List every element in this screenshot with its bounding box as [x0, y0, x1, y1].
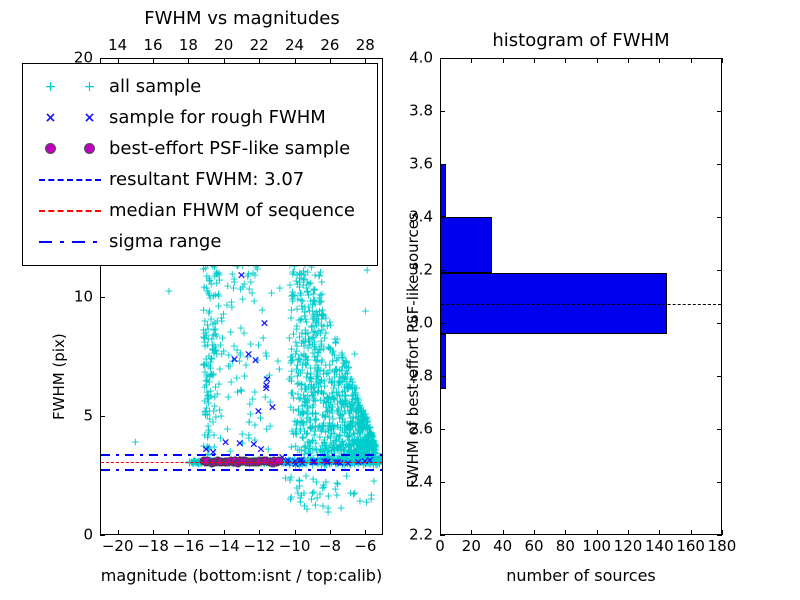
scatter-point-all-sample: + [316, 443, 325, 454]
scatter-point-all-sample: + [204, 324, 213, 335]
histogram-bar [441, 217, 492, 273]
scatter-xtick [259, 530, 260, 535]
scatter-point-all-sample: + [321, 312, 330, 323]
scatter-point-all-sample: + [348, 412, 357, 423]
scatter-point-rough-fwhm: × [202, 444, 211, 455]
scatter-point-all-sample: + [347, 374, 356, 385]
scatter-point-all-sample: + [206, 386, 215, 397]
scatter-point-all-sample: + [313, 369, 322, 380]
scatter-point-all-sample: + [208, 339, 217, 350]
scatter-point-all-sample: + [312, 314, 321, 325]
scatter-point-all-sample: + [308, 339, 317, 350]
scatter-point-all-sample: + [367, 428, 376, 439]
scatter-point-all-sample: + [250, 420, 259, 431]
scatter-point-all-sample: + [328, 347, 337, 358]
scatter-point-all-sample: + [311, 308, 320, 319]
scatter-point-all-sample: + [300, 302, 309, 313]
scatter-point-all-sample: + [333, 406, 342, 417]
scatter-point-all-sample: + [288, 354, 297, 365]
scatter-point-all-sample: + [367, 436, 376, 447]
scatter-point-all-sample: + [288, 268, 297, 279]
scatter-point-all-sample: + [293, 355, 302, 366]
scatter-point-all-sample: + [202, 271, 211, 282]
scatter-point-all-sample: + [340, 417, 349, 428]
scatter-point-all-sample: + [292, 275, 301, 286]
scatter-point-all-sample: + [324, 424, 333, 435]
scatter-point-all-sample: + [217, 315, 226, 326]
scatter-point-all-sample: + [295, 272, 304, 283]
scatter-point-all-sample: + [258, 455, 267, 466]
scatter-point-all-sample: + [290, 415, 299, 426]
scatter-point-all-sample: + [321, 439, 330, 450]
scatter-point-all-sample: + [201, 407, 210, 418]
scatter-point-all-sample: + [338, 408, 347, 419]
scatter-point-all-sample: + [227, 296, 236, 307]
histogram-top-xtick [691, 58, 692, 63]
scatter-point-all-sample: + [346, 458, 355, 469]
scatter-point-all-sample: + [248, 287, 257, 298]
scatter-point-all-sample: + [311, 316, 320, 327]
scatter-point-all-sample: + [319, 455, 328, 466]
scatter-point-all-sample: + [356, 427, 365, 438]
scatter-point-all-sample: + [344, 448, 353, 459]
scatter-point-all-sample: + [355, 419, 364, 430]
scatter-point-all-sample: + [338, 442, 347, 453]
scatter-point-all-sample: + [297, 379, 306, 390]
scatter-point-all-sample: + [323, 320, 332, 331]
scatter-point-all-sample: + [329, 437, 338, 448]
scatter-point-all-sample: + [307, 386, 316, 397]
scatter-point-all-sample: + [223, 280, 232, 291]
scatter-point-rough-fwhm: × [360, 455, 369, 466]
scatter-point-all-sample: + [344, 382, 353, 393]
scatter-point-all-sample: + [362, 433, 371, 444]
scatter-point-all-sample: + [341, 425, 350, 436]
scatter-point-all-sample: + [328, 375, 337, 386]
scatter-point-all-sample: + [334, 403, 343, 414]
scatter-point-all-sample: + [361, 433, 370, 444]
scatter-point-all-sample: + [325, 458, 334, 469]
scatter-point-all-sample: + [311, 317, 320, 328]
scatter-point-all-sample: + [211, 342, 220, 353]
scatter-point-all-sample: + [321, 477, 330, 488]
scatter-point-all-sample: + [358, 422, 367, 433]
scatter-point-all-sample: + [362, 421, 371, 432]
scatter-point-all-sample: + [332, 355, 341, 366]
scatter-ytick [100, 535, 105, 536]
scatter-point-all-sample: + [345, 442, 354, 453]
scatter-point-all-sample: + [288, 289, 297, 300]
scatter-point-all-sample: + [330, 429, 339, 440]
scatter-point-all-sample: + [368, 443, 377, 454]
scatter-point-all-sample: + [206, 292, 215, 303]
scatter-point-all-sample: + [212, 349, 221, 360]
scatter-point-all-sample: + [328, 387, 337, 398]
scatter-point-all-sample: + [322, 402, 331, 413]
scatter-point-all-sample: + [309, 382, 318, 393]
scatter-point-all-sample: + [214, 269, 223, 280]
scatter-point-all-sample: + [357, 419, 366, 430]
scatter-point-all-sample: + [361, 437, 370, 448]
scatter-point-all-sample: + [346, 416, 355, 427]
scatter-point-all-sample: + [343, 381, 352, 392]
scatter-point-all-sample: + [359, 441, 368, 452]
scatter-point-all-sample: + [320, 482, 329, 493]
scatter-point-all-sample: + [288, 295, 297, 306]
scatter-point-all-sample: + [203, 319, 212, 330]
scatter-point-all-sample: + [298, 303, 307, 314]
scatter-point-all-sample: + [211, 346, 220, 357]
scatter-point-all-sample: + [212, 269, 221, 280]
scatter-point-all-sample: + [344, 432, 353, 443]
scatter-point-all-sample: + [371, 442, 380, 453]
scatter-point-all-sample: + [200, 367, 209, 378]
scatter-point-all-sample: + [324, 490, 333, 501]
scatter-point-all-sample: + [201, 409, 210, 420]
scatter-point-all-sample: + [350, 437, 359, 448]
scatter-point-all-sample: + [360, 441, 369, 452]
scatter-point-all-sample: + [355, 419, 364, 430]
scatter-point-all-sample: + [293, 370, 302, 381]
scatter-point-all-sample: + [346, 441, 355, 452]
scatter-point-all-sample: + [329, 422, 338, 433]
scatter-point-all-sample: + [336, 423, 345, 434]
scatter-point-all-sample: + [204, 430, 213, 441]
histogram-xtick [659, 530, 660, 535]
scatter-point-all-sample: + [208, 370, 217, 381]
scatter-point-all-sample: + [305, 440, 314, 451]
scatter-point-all-sample: + [362, 455, 371, 466]
scatter-point-rough-fwhm: × [221, 436, 230, 447]
scatter-point-all-sample: + [349, 489, 358, 500]
scatter-point-all-sample: + [298, 359, 307, 370]
scatter-point-all-sample: + [303, 327, 312, 338]
scatter-point-all-sample: + [365, 447, 374, 458]
scatter-point-all-sample: + [353, 434, 362, 445]
scatter-point-all-sample: + [345, 430, 354, 441]
scatter-point-all-sample: + [214, 300, 223, 311]
scatter-point-all-sample: + [334, 377, 343, 388]
scatter-point-all-sample: + [351, 382, 360, 393]
scatter-point-all-sample: + [344, 448, 353, 459]
scatter-point-all-sample: + [341, 389, 350, 400]
scatter-point-all-sample: + [317, 459, 326, 470]
scatter-point-all-sample: + [354, 404, 363, 415]
scatter-point-all-sample: + [353, 444, 362, 455]
scatter-point-all-sample: + [301, 313, 310, 324]
scatter-point-all-sample: + [324, 341, 333, 352]
scatter-point-all-sample: + [226, 458, 235, 469]
scatter-point-all-sample: + [250, 269, 259, 280]
scatter-point-all-sample: + [303, 286, 312, 297]
scatter-point-all-sample: + [265, 459, 274, 470]
scatter-point-all-sample: + [312, 319, 321, 330]
scatter-point-all-sample: + [313, 351, 322, 362]
scatter-point-all-sample: + [343, 422, 352, 433]
scatter-point-all-sample: + [200, 336, 209, 347]
scatter-point-all-sample: + [333, 443, 342, 454]
scatter-point-all-sample: + [293, 278, 302, 289]
scatter-point-all-sample: + [309, 400, 318, 411]
scatter-point-all-sample: + [355, 439, 364, 450]
scatter-point-all-sample: + [320, 396, 329, 407]
scatter-point-all-sample: + [329, 382, 338, 393]
scatter-point-all-sample: + [337, 436, 346, 447]
scatter-point-all-sample: + [326, 421, 335, 432]
scatter-point-all-sample: + [340, 397, 349, 408]
scatter-point-all-sample: + [340, 394, 349, 405]
scatter-point-all-sample: + [131, 436, 140, 447]
scatter-point-all-sample: + [361, 443, 370, 454]
scatter-point-all-sample: + [308, 444, 317, 455]
scatter-point-all-sample: + [305, 444, 314, 455]
scatter-point-all-sample: + [308, 435, 317, 446]
scatter-point-all-sample: + [328, 407, 337, 418]
scatter-point-all-sample: + [357, 425, 366, 436]
scatter-point-all-sample: + [297, 458, 306, 469]
scatter-point-all-sample: + [318, 421, 327, 432]
scatter-point-all-sample: + [306, 296, 315, 307]
scatter-point-all-sample: + [339, 373, 348, 384]
scatter-point-all-sample: + [371, 458, 380, 469]
scatter-point-all-sample: + [362, 420, 371, 431]
scatter-point-all-sample: + [291, 459, 300, 470]
scatter-point-all-sample: + [229, 455, 238, 466]
scatter-point-all-sample: + [339, 357, 348, 368]
scatter-point-all-sample: + [210, 270, 219, 281]
scatter-point-all-sample: + [312, 374, 321, 385]
scatter-point-all-sample: + [213, 388, 222, 399]
scatter-point-all-sample: + [343, 431, 352, 442]
scatter-point-all-sample: + [311, 437, 320, 448]
scatter-point-all-sample: + [370, 440, 379, 451]
scatter-point-all-sample: + [345, 440, 354, 451]
histogram-xtick [691, 530, 692, 535]
scatter-point-all-sample: + [314, 376, 323, 387]
scatter-point-all-sample: + [313, 364, 322, 375]
scatter-point-all-sample: + [301, 394, 310, 405]
scatter-point-all-sample: + [359, 443, 368, 454]
scatter-point-all-sample: + [346, 400, 355, 411]
scatter-point-all-sample: + [320, 459, 329, 470]
scatter-point-all-sample: + [354, 397, 363, 408]
scatter-point-all-sample: + [318, 500, 327, 511]
scatter-point-all-sample: + [335, 371, 344, 382]
scatter-point-all-sample: + [343, 401, 352, 412]
scatter-point-all-sample: + [371, 440, 380, 451]
scatter-point-all-sample: + [362, 435, 371, 446]
scatter-point-all-sample: + [344, 362, 353, 373]
cross-marker-icon: × [45, 111, 57, 125]
scatter-point-all-sample: + [328, 387, 337, 398]
histogram-bar [441, 164, 446, 217]
scatter-point-all-sample: + [341, 369, 350, 380]
scatter-point-all-sample: + [319, 311, 328, 322]
scatter-point-all-sample: + [246, 277, 255, 288]
scatter-point-all-sample: + [360, 432, 369, 443]
scatter-point-all-sample: + [352, 436, 361, 447]
scatter-point-all-sample: + [238, 294, 247, 305]
scatter-point-all-sample: + [212, 330, 221, 341]
scatter-point-all-sample: + [346, 487, 355, 498]
scatter-point-all-sample: + [217, 313, 226, 324]
scatter-point-all-sample: + [217, 458, 226, 469]
scatter-point-all-sample: + [345, 407, 354, 418]
scatter-point-all-sample: + [265, 421, 274, 432]
scatter-point-all-sample: + [211, 412, 220, 423]
scatter-point-all-sample: + [368, 432, 377, 443]
scatter-point-all-sample: + [214, 267, 223, 278]
scatter-point-all-sample: + [297, 301, 306, 312]
scatter-point-all-sample: + [194, 458, 203, 469]
scatter-point-all-sample: + [303, 436, 312, 447]
scatter-point-all-sample: + [352, 406, 361, 417]
scatter-xticklabel: −6 [354, 539, 376, 554]
scatter-point-all-sample: + [369, 438, 378, 449]
scatter-point-all-sample: + [338, 424, 347, 435]
scatter-point-all-sample: + [365, 428, 374, 439]
scatter-point-all-sample: + [204, 334, 213, 345]
scatter-point-all-sample: + [344, 361, 353, 372]
scatter-point-all-sample: + [298, 417, 307, 428]
scatter-point-all-sample: + [209, 430, 218, 441]
scatter-point-all-sample: + [202, 358, 211, 369]
scatter-point-all-sample: + [340, 405, 349, 416]
scatter-point-all-sample: + [282, 458, 291, 469]
scatter-point-all-sample: + [332, 368, 341, 379]
scatter-point-all-sample: + [341, 355, 350, 366]
scatter-point-all-sample: + [310, 344, 319, 355]
histogram-bar [441, 273, 667, 334]
scatter-point-all-sample: + [364, 433, 373, 444]
scatter-point-all-sample: + [306, 362, 315, 373]
scatter-top-xticklabel: 22 [250, 38, 269, 53]
scatter-point-all-sample: + [375, 459, 382, 470]
scatter-point-rough-fwhm: × [205, 455, 214, 466]
scatter-point-all-sample: + [342, 439, 351, 450]
scatter-point-all-sample: + [230, 276, 239, 287]
scatter-point-all-sample: + [340, 417, 349, 428]
scatter-point-all-sample: + [325, 421, 334, 432]
scatter-point-all-sample: + [289, 404, 298, 415]
scatter-point-all-sample: + [285, 332, 294, 343]
scatter-point-all-sample: + [304, 301, 313, 312]
scatter-point-all-sample: + [312, 366, 321, 377]
scatter-point-all-sample: + [346, 400, 355, 411]
scatter-point-all-sample: + [336, 397, 345, 408]
scatter-point-rough-fwhm: × [254, 405, 263, 416]
scatter-point-all-sample: + [290, 289, 299, 300]
scatter-xtick [224, 530, 225, 535]
scatter-point-all-sample: + [353, 399, 362, 410]
scatter-point-all-sample: + [368, 451, 377, 462]
histogram-xticklabel: 60 [524, 539, 543, 554]
scatter-point-all-sample: + [318, 304, 327, 315]
scatter-point-all-sample: + [345, 439, 354, 450]
scatter-point-all-sample: + [203, 391, 212, 402]
scatter-point-all-sample: + [301, 334, 310, 345]
scatter-point-all-sample: + [316, 455, 325, 466]
scatter-point-all-sample: + [298, 406, 307, 417]
scatter-point-all-sample: + [289, 393, 298, 404]
scatter-point-all-sample: + [200, 429, 209, 440]
scatter-point-all-sample: + [207, 354, 216, 365]
scatter-point-all-sample: + [302, 359, 311, 370]
legend-label-4: median FHWM of sequence [109, 200, 355, 221]
scatter-point-all-sample: + [298, 458, 307, 469]
scatter-point-all-sample: + [340, 373, 349, 384]
scatter-point-all-sample: + [295, 475, 304, 486]
scatter-point-all-sample: + [306, 423, 315, 434]
scatter-point-all-sample: + [250, 434, 259, 445]
scatter-point-all-sample: + [304, 336, 313, 347]
scatter-point-all-sample: + [302, 428, 311, 439]
scatter-point-all-sample: + [303, 427, 312, 438]
scatter-point-all-sample: + [296, 393, 305, 404]
scatter-point-all-sample: + [246, 338, 255, 349]
scatter-point-all-sample: + [316, 377, 325, 388]
scatter-point-all-sample: + [314, 326, 323, 337]
scatter-point-all-sample: + [207, 369, 216, 380]
scatter-point-all-sample: + [342, 366, 351, 377]
scatter-point-all-sample: + [296, 459, 305, 470]
scatter-point-all-sample: + [351, 451, 360, 462]
scatter-point-all-sample: + [299, 420, 308, 431]
scatter-point-all-sample: + [300, 311, 309, 322]
scatter-point-all-sample: + [320, 437, 329, 448]
scatter-point-all-sample: + [286, 472, 295, 483]
scatter-point-all-sample: + [225, 361, 234, 372]
scatter-point-all-sample: + [353, 444, 362, 455]
scatter-point-all-sample: + [296, 455, 305, 466]
scatter-point-all-sample: + [310, 313, 319, 324]
scatter-point-all-sample: + [363, 451, 372, 462]
scatter-point-all-sample: + [357, 444, 366, 455]
scatter-point-all-sample: + [312, 378, 321, 389]
scatter-point-all-sample: + [365, 421, 374, 432]
scatter-point-all-sample: + [224, 349, 233, 360]
legend-item-4: median FHWM of sequence [31, 195, 369, 226]
scatter-point-all-sample: + [216, 455, 225, 466]
scatter-point-all-sample: + [299, 349, 308, 360]
scatter-point-all-sample: + [287, 426, 296, 437]
scatter-point-all-sample: + [358, 410, 367, 421]
scatter-point-all-sample: + [333, 443, 342, 454]
scatter-point-all-sample: + [323, 392, 332, 403]
scatter-point-all-sample: + [236, 350, 245, 361]
scatter-point-all-sample: + [308, 348, 317, 359]
scatter-point-all-sample: + [202, 353, 211, 364]
scatter-point-rough-fwhm: × [256, 444, 265, 455]
scatter-point-all-sample: + [308, 305, 317, 316]
scatter-point-all-sample: + [326, 343, 335, 354]
scatter-point-all-sample: + [204, 425, 213, 436]
scatter-point-all-sample: + [320, 434, 329, 445]
scatter-point-all-sample: + [363, 416, 372, 427]
scatter-point-all-sample: + [299, 340, 308, 351]
scatter-point-all-sample: + [321, 426, 330, 437]
scatter-point-all-sample: + [375, 459, 382, 470]
scatter-point-all-sample: + [317, 341, 326, 352]
scatter-point-all-sample: + [325, 458, 334, 469]
legend-label-2: best-effort PSF-like sample [109, 138, 350, 159]
scatter-point-all-sample: + [355, 400, 364, 411]
histogram-right-ytick [717, 58, 722, 59]
scatter-top-xticklabel: 26 [320, 38, 339, 53]
scatter-point-all-sample: + [362, 458, 371, 469]
scatter-point-all-sample: + [366, 442, 375, 453]
scatter-point-all-sample: + [304, 342, 313, 353]
